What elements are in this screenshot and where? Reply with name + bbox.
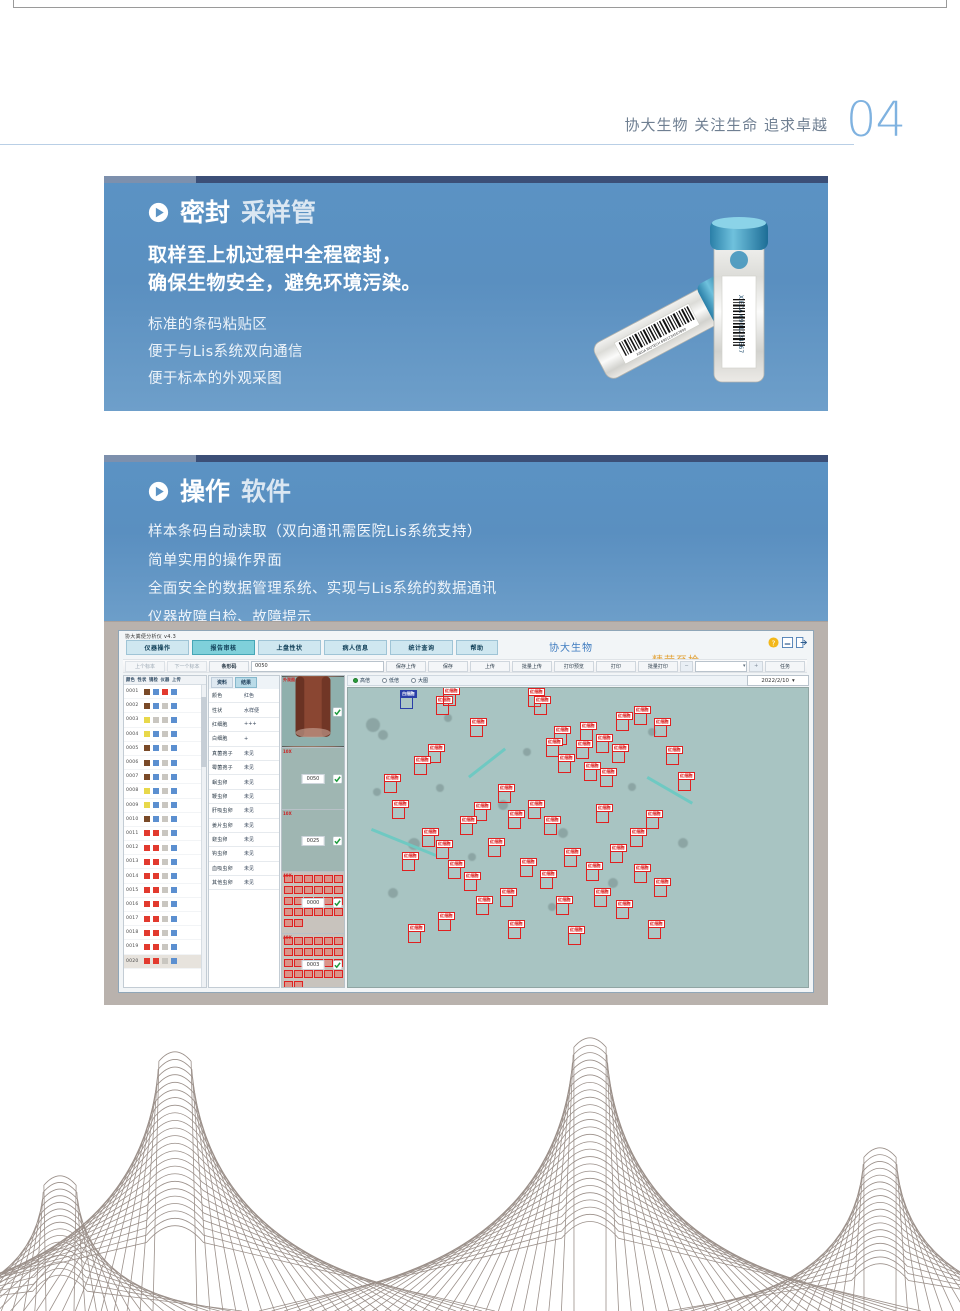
sample-row[interactable]: 0013: [124, 855, 206, 869]
thumbnail-detection-box: [284, 908, 293, 916]
property-value: 未见: [242, 822, 254, 829]
property-row: 蛔虫卵未见: [209, 775, 279, 789]
sample-row[interactable]: 0016: [124, 898, 206, 912]
status-chip: [153, 859, 159, 865]
next-sample-button[interactable]: 下一个标本: [167, 661, 207, 672]
svg-text:?: ?: [772, 638, 776, 647]
result-properties-panel[interactable]: 资料 结果 颜色红色性状水样便红细胞+++白细胞+真菌孢子未见霉菌孢子未见蛔虫卵…: [208, 675, 280, 988]
batch-print-button[interactable]: 批量打印: [638, 661, 678, 672]
status-chip: [162, 816, 168, 822]
detection-box[interactable]: 红细胞: [634, 870, 647, 883]
detection-label: 红细胞: [520, 858, 537, 866]
spinner-decrement-button[interactable]: −: [680, 661, 694, 672]
thumbnail-detection-box: [324, 948, 333, 956]
status-chip: [153, 958, 159, 964]
thumbnail-appearance[interactable]: 外观图: [282, 676, 344, 748]
thumbnail-detection-box: [314, 886, 323, 894]
status-chip: [162, 887, 168, 893]
radio-high-magnification[interactable]: 高倍: [353, 677, 370, 684]
detection-label: 红细胞: [564, 848, 581, 856]
property-value: 未见: [242, 793, 254, 800]
detection-label: 红细胞: [508, 920, 525, 928]
sample-id: 0012: [126, 845, 141, 850]
detection-box[interactable]: 红细胞: [564, 854, 577, 867]
status-chip: [153, 916, 159, 922]
detection-label: 红细胞: [508, 810, 525, 818]
detection-box[interactable]: 红细胞: [596, 740, 609, 753]
detection-label: 红细胞: [528, 688, 545, 696]
sample-row[interactable]: 0020: [124, 955, 206, 969]
software-screenshot-frame: 协大粪便分析仪 v4.3 协大生物 精苛至检 ? 仪器操作 报告审核 上盘性状 …: [104, 622, 828, 1005]
thumbnail-detection-box: [284, 937, 293, 945]
detection-label: 红细胞: [540, 870, 557, 878]
thumbnail-detection-box: [314, 937, 323, 945]
property-value: 未见: [242, 807, 254, 814]
thumbnail-detection-box: [284, 886, 293, 894]
thumbnail-strip[interactable]: 外观图 10X 0050: [281, 675, 345, 988]
section-sealed-sampling-tube: 密封采样管 取样至上机过程中全程密封， 确保生物安全，避免环境污染。 标准的条码…: [104, 176, 828, 411]
detection-box[interactable]: 红细胞: [498, 790, 511, 803]
sample-row[interactable]: 0008: [124, 784, 206, 798]
status-chip: [144, 930, 150, 936]
status-chip: [144, 830, 150, 836]
sample-row[interactable]: 0019: [124, 940, 206, 954]
status-chip: [153, 816, 159, 822]
detection-label: 白细胞: [400, 690, 417, 698]
spinner-increment-button[interactable]: +: [749, 661, 763, 672]
property-row: 颜色红色: [209, 689, 279, 703]
sample-row[interactable]: 0009: [124, 799, 206, 813]
detection-label: 红细胞: [612, 744, 629, 752]
thumbnail-detection-box: [304, 908, 313, 916]
property-row: 性状水样便: [209, 703, 279, 717]
detection-box[interactable]: 红细胞: [610, 850, 623, 863]
section-title-strong: 密封: [180, 200, 230, 225]
thumbnail-detection-box: [314, 875, 323, 883]
detection-box[interactable]: 红细胞: [520, 864, 533, 877]
property-key: 钩虫卵: [209, 850, 242, 857]
sample-tube-photo: XIEDA BIOTECH 6901234567890 XIEDA 690123…: [558, 198, 818, 398]
tab-statistics-query[interactable]: 统计查询: [390, 640, 453, 655]
detection-label: 红细胞: [422, 828, 439, 836]
status-chip: [144, 731, 150, 737]
detection-box[interactable]: 红细胞: [508, 926, 521, 939]
tab-report-review[interactable]: 报告审核: [192, 640, 255, 655]
barcode-button[interactable]: 条形码: [209, 661, 249, 672]
thumbnail-detection-box: [304, 970, 313, 978]
sample-row[interactable]: 0010: [124, 813, 206, 827]
detection-box[interactable]: 红细胞: [654, 884, 667, 897]
thumbnail-detection-box: [314, 948, 323, 956]
printer-select[interactable]: ▾: [695, 661, 747, 672]
sample-id: 0005: [126, 746, 141, 751]
property-row: 真菌孢子未见: [209, 747, 279, 761]
column-header-microscopy: 镜检: [149, 677, 158, 683]
detection-box[interactable]: 红细胞: [414, 762, 427, 775]
status-chip: [153, 830, 159, 836]
detection-box[interactable]: 红细胞: [678, 778, 691, 791]
detection-label: 红细胞: [586, 862, 603, 870]
check-icon[interactable]: [333, 960, 342, 969]
thumbnail-detection-box: [304, 948, 313, 956]
fiber-artifact: [468, 748, 506, 778]
thumbnail-detection-box: [304, 875, 313, 883]
status-chip: [162, 788, 168, 794]
detection-box[interactable]: 红细胞: [500, 894, 513, 907]
status-chip: [144, 703, 150, 709]
thumbnail-detection-box: [294, 886, 303, 894]
main-tab-bar[interactable]: 仪器操作 报告审核 上盘性状 病人信息 统计查询 帮助: [126, 640, 498, 655]
sample-id: 0008: [126, 788, 141, 793]
save-button[interactable]: 保存: [428, 661, 468, 672]
sample-row[interactable]: 0018: [124, 926, 206, 940]
status-chip: [153, 944, 159, 950]
scrollbar-thumb[interactable]: [201, 697, 206, 767]
sample-row[interactable]: 0007: [124, 770, 206, 784]
sample-id: 0016: [126, 902, 141, 907]
status-chip: [162, 717, 168, 723]
detection-box[interactable]: 红细胞: [528, 806, 541, 819]
status-chip: [144, 774, 150, 780]
date-field[interactable]: 2022/2/10 ▾: [747, 675, 809, 686]
property-value: +++: [242, 721, 257, 727]
detection-box[interactable]: 红细胞: [470, 724, 483, 737]
detection-box[interactable]: 白细胞: [400, 696, 413, 709]
detection-label: 红细胞: [500, 888, 517, 896]
thumbnail-detection-box: [294, 937, 303, 945]
cell-debris: [378, 730, 388, 740]
detection-box[interactable]: 红细胞: [476, 902, 489, 915]
property-value: 红色: [242, 692, 254, 699]
thumbnail-number: 0050: [302, 774, 325, 784]
thumbnail-detection-box: [334, 970, 343, 978]
detection-box[interactable]: 红细胞: [448, 866, 461, 879]
status-chip: [144, 859, 150, 865]
property-row: 钩虫卵未见: [209, 847, 279, 861]
property-key: 颜色: [209, 692, 242, 699]
radio-low-magnification[interactable]: 低倍: [382, 677, 399, 684]
sample-list-scrollbar[interactable]: [201, 685, 206, 987]
status-chip: [171, 944, 177, 950]
page-border: [13, 0, 947, 8]
status-chip: [171, 930, 177, 936]
play-circle-icon: [148, 202, 169, 223]
thumbnail-detection-box: [284, 948, 293, 956]
section-title-rest: 采样管: [241, 200, 316, 225]
detection-label: 红细胞: [616, 900, 633, 908]
property-value: 未见: [242, 865, 254, 872]
help-icon[interactable]: ?: [768, 637, 779, 648]
status-chip: [171, 887, 177, 893]
detection-box[interactable]: 红细胞: [600, 774, 613, 787]
upload-button[interactable]: 上传: [470, 661, 510, 672]
sample-row[interactable]: 0011: [124, 827, 206, 841]
sample-row[interactable]: 0012: [124, 841, 206, 855]
status-chip: [171, 830, 177, 836]
detection-box[interactable]: 红细胞: [630, 834, 643, 847]
thumbnail-microscope-4[interactable]: 40X 0003: [282, 934, 344, 988]
detection-box[interactable]: 红细胞: [586, 868, 599, 881]
status-chip: [171, 859, 177, 865]
detection-box[interactable]: 红细胞: [654, 724, 667, 737]
detection-box[interactable]: 红细胞: [534, 702, 547, 715]
save-and-upload-button[interactable]: 保存上传: [386, 661, 426, 672]
property-key: 蛲虫卵: [209, 836, 242, 843]
detection-label: 红细胞: [634, 864, 651, 872]
detection-box[interactable]: 红细胞: [384, 780, 397, 793]
detection-box[interactable]: 红细胞: [460, 822, 473, 835]
sample-id: 0010: [126, 817, 141, 822]
detection-box[interactable]: 红细胞: [584, 768, 597, 781]
radio-dot-icon: [353, 678, 358, 683]
thumbnail-detection-box: [314, 970, 323, 978]
tab-patient-info[interactable]: 病人信息: [324, 640, 387, 655]
sample-row[interactable]: 0006: [124, 756, 206, 770]
task-button[interactable]: 任务: [765, 661, 805, 672]
status-chip: [144, 901, 150, 907]
detection-box[interactable]: 红细胞: [443, 693, 456, 706]
thumbnail-microscope-3[interactable]: 40X 0000: [282, 872, 344, 934]
detection-label: 红细胞: [498, 784, 515, 792]
detection-label: 红细胞: [476, 896, 493, 904]
detection-box[interactable]: 红细胞: [612, 750, 625, 763]
thumbnail-detection-box: [294, 875, 303, 883]
thumbnail-microscope-1[interactable]: 10X 0050: [282, 748, 344, 810]
detection-label: 红细胞: [646, 810, 663, 818]
status-chip: [153, 760, 159, 766]
detection-box[interactable]: 红细胞: [594, 894, 607, 907]
thumbnail-detection-box: [324, 886, 333, 894]
print-button[interactable]: 打印: [596, 661, 636, 672]
property-key: 其他虫卵: [209, 879, 242, 886]
detection-label: 红细胞: [558, 754, 575, 762]
sample-list[interactable]: 颜色 性状 镜检 仪器 上传 0001000200030004000500060…: [123, 675, 207, 988]
detection-label: 红细胞: [610, 844, 627, 852]
tab-help[interactable]: 帮助: [456, 640, 498, 655]
detection-label: 红细胞: [580, 722, 597, 730]
header-brand-line: 协大生物 关注生命 追求卓越: [624, 114, 828, 135]
detection-box[interactable]: 红细胞: [392, 806, 405, 819]
minimize-icon[interactable]: [782, 637, 793, 648]
detection-label: 红细胞: [438, 912, 455, 920]
radio-label: 低倍: [389, 677, 399, 684]
status-chip: [153, 887, 159, 893]
thumbnail-detection-box: [284, 959, 293, 967]
sample-id: 0007: [126, 774, 141, 779]
radio-dot-icon: [382, 678, 387, 683]
detection-box[interactable]: 红细胞: [558, 760, 571, 773]
thumbnail-detection-box: [314, 908, 323, 916]
detection-box[interactable]: 红细胞: [508, 816, 521, 829]
sample-id: 0014: [126, 874, 141, 879]
detection-box[interactable]: 红细胞: [634, 712, 647, 725]
detection-label: 红细胞: [594, 888, 611, 896]
thumbnail-number: 0025: [302, 836, 325, 846]
properties-tab-bar[interactable]: 资料 结果: [209, 676, 279, 689]
column-header-form: 性状: [138, 677, 147, 683]
barcode-input[interactable]: 0050: [251, 661, 384, 672]
detection-label: 红细胞: [448, 860, 465, 868]
sample-row[interactable]: 0014: [124, 869, 206, 883]
print-preview-button[interactable]: 打印预览: [554, 661, 594, 672]
decorative-mountain-lines: [0, 1011, 960, 1311]
check-icon[interactable]: [333, 898, 342, 907]
cell-debris: [388, 888, 398, 898]
detection-box[interactable]: 红细胞: [408, 930, 421, 943]
status-chip: [144, 873, 150, 879]
sample-row[interactable]: 0001: [124, 685, 206, 699]
window-controls[interactable]: ?: [768, 637, 807, 648]
detection-box[interactable]: 红细胞: [422, 834, 435, 847]
status-chip: [171, 845, 177, 851]
status-chip: [162, 958, 168, 964]
sample-row[interactable]: 0005: [124, 742, 206, 756]
status-chip: [162, 689, 168, 695]
thumbnail-detection-box: [284, 981, 293, 988]
status-chip: [153, 845, 159, 851]
check-icon[interactable]: [333, 836, 342, 845]
property-value: 未见: [242, 879, 254, 886]
property-value: 未见: [242, 764, 254, 771]
detection-box[interactable]: 红细胞: [540, 876, 553, 889]
property-row: 霉菌孢子未见: [209, 761, 279, 775]
section-bullets: 样本条码自动读取（双向通讯需医院Lis系统支持） 简单实用的操作界面 全面安全的…: [148, 518, 828, 632]
status-chip: [162, 873, 168, 879]
thumbnail-detection-box: [334, 875, 343, 883]
thumbnail-detection-box: [294, 970, 303, 978]
app-brand: 协大生物: [549, 639, 593, 654]
status-chip: [144, 760, 150, 766]
bullet-item: 全面安全的数据管理系统、实现与Lis系统的数据通讯: [148, 575, 828, 604]
sample-id: 0017: [126, 916, 141, 921]
detection-label: 红细胞: [666, 746, 683, 754]
status-chip: [162, 944, 168, 950]
thumbnail-microscope-2[interactable]: 10X 0025: [282, 810, 344, 872]
property-row: 白细胞+: [209, 732, 279, 746]
status-chip: [162, 802, 168, 808]
thumbnail-detection-box: [324, 875, 333, 883]
detection-label: 红细胞: [584, 762, 601, 770]
magnification-radio-group[interactable]: 高倍 低倍 大图: [347, 675, 809, 686]
batch-upload-button[interactable]: 批量上传: [512, 661, 552, 672]
thumbnail-number: 0000: [302, 898, 325, 908]
check-icon[interactable]: [333, 707, 342, 716]
sample-id: 0001: [126, 689, 141, 694]
detection-box[interactable]: 红细胞: [576, 746, 589, 759]
tab-profile-data[interactable]: 资料: [211, 677, 233, 688]
property-row: 鞭虫卵未见: [209, 790, 279, 804]
thumbnail-detection-box: [294, 919, 303, 927]
cell-debris: [558, 828, 568, 838]
status-chip: [153, 930, 159, 936]
detection-box[interactable]: 红细胞: [556, 902, 569, 915]
status-chip: [144, 958, 150, 964]
status-chip: [153, 731, 159, 737]
column-header-color: 颜色: [126, 677, 135, 683]
detection-label: 红细胞: [568, 926, 585, 934]
toolbar[interactable]: 上个标本 下一个标本 条形码 0050 保存上传 保存 上传 批量上传 打印预览…: [123, 659, 807, 673]
detection-box[interactable]: 红细胞: [648, 926, 661, 939]
status-chip: [171, 760, 177, 766]
detection-label: 红细胞: [678, 772, 695, 780]
property-row: 其他虫卵未见: [209, 876, 279, 890]
status-chip: [144, 717, 150, 723]
property-value: +: [242, 736, 248, 742]
status-chip: [171, 901, 177, 907]
sample-row[interactable]: 0017: [124, 912, 206, 926]
sample-id: 0009: [126, 803, 141, 808]
detection-label: 红细胞: [402, 852, 419, 860]
section-title: 操作软件: [148, 479, 828, 504]
detection-box[interactable]: 红细胞: [488, 844, 501, 857]
detection-box[interactable]: 红细胞: [438, 918, 451, 931]
detection-box[interactable]: 红细胞: [596, 810, 609, 823]
detection-box[interactable]: 红细胞: [568, 932, 581, 945]
cell-debris: [444, 714, 452, 722]
check-icon[interactable]: [333, 774, 342, 783]
sample-row[interactable]: 0002: [124, 699, 206, 713]
status-chip: [153, 717, 159, 723]
play-circle-icon: [148, 481, 169, 502]
microscope-viewer[interactable]: 白细胞红细胞红细胞红细胞红细胞红细胞红细胞红细胞红细胞红细胞红细胞红细胞红细胞红…: [347, 687, 809, 988]
detection-box[interactable]: 红细胞: [616, 718, 629, 731]
detection-label: 红细胞: [436, 840, 453, 848]
detection-label: 红细胞: [554, 726, 571, 734]
status-chip: [171, 689, 177, 695]
detection-box[interactable]: 红细胞: [666, 752, 679, 765]
sample-id: 0015: [126, 888, 141, 893]
status-chip: [171, 774, 177, 780]
detection-label: 红细胞: [392, 800, 409, 808]
detection-label: 红细胞: [634, 706, 651, 714]
detection-label: 红细胞: [474, 802, 491, 810]
sample-id: 0018: [126, 930, 141, 935]
detection-box[interactable]: 红细胞: [544, 822, 557, 835]
detection-box[interactable]: 红细胞: [402, 858, 415, 871]
status-chip: [144, 916, 150, 922]
sample-id: 0020: [126, 959, 141, 964]
radio-large-image[interactable]: 大图: [411, 677, 428, 684]
detection-box[interactable]: 红细胞: [464, 878, 477, 891]
status-chip: [153, 901, 159, 907]
cell-debris: [436, 784, 444, 792]
application-window: 协大粪便分析仪 v4.3 协大生物 精苛至检 ? 仪器操作 报告审核 上盘性状 …: [118, 630, 814, 993]
detection-box[interactable]: 红细胞: [616, 906, 629, 919]
tab-instrument-operation[interactable]: 仪器操作: [126, 640, 189, 655]
sample-row[interactable]: 0004: [124, 728, 206, 742]
status-chip: [153, 703, 159, 709]
status-chip: [171, 816, 177, 822]
status-chip: [144, 689, 150, 695]
prev-sample-button[interactable]: 上个标本: [125, 661, 165, 672]
thumbnail-detection-box: [324, 937, 333, 945]
thumbnail-detection-box: [284, 897, 293, 905]
tab-results[interactable]: 结果: [235, 677, 257, 688]
detection-label: 红细胞: [460, 816, 477, 824]
sample-row[interactable]: 0015: [124, 884, 206, 898]
status-chip: [144, 944, 150, 950]
detection-label: 红细胞: [654, 878, 671, 886]
sample-row[interactable]: 0003: [124, 713, 206, 727]
detection-box[interactable]: 红细胞: [646, 816, 659, 829]
tab-plate-properties[interactable]: 上盘性状: [258, 640, 321, 655]
exit-icon[interactable]: [796, 637, 807, 648]
status-chip: [144, 816, 150, 822]
thumbnail-detection-box: [334, 886, 343, 894]
chevron-down-icon[interactable]: ▾: [792, 678, 795, 684]
detection-box[interactable]: 红细胞: [436, 846, 449, 859]
property-key: 真菌孢子: [209, 750, 242, 757]
